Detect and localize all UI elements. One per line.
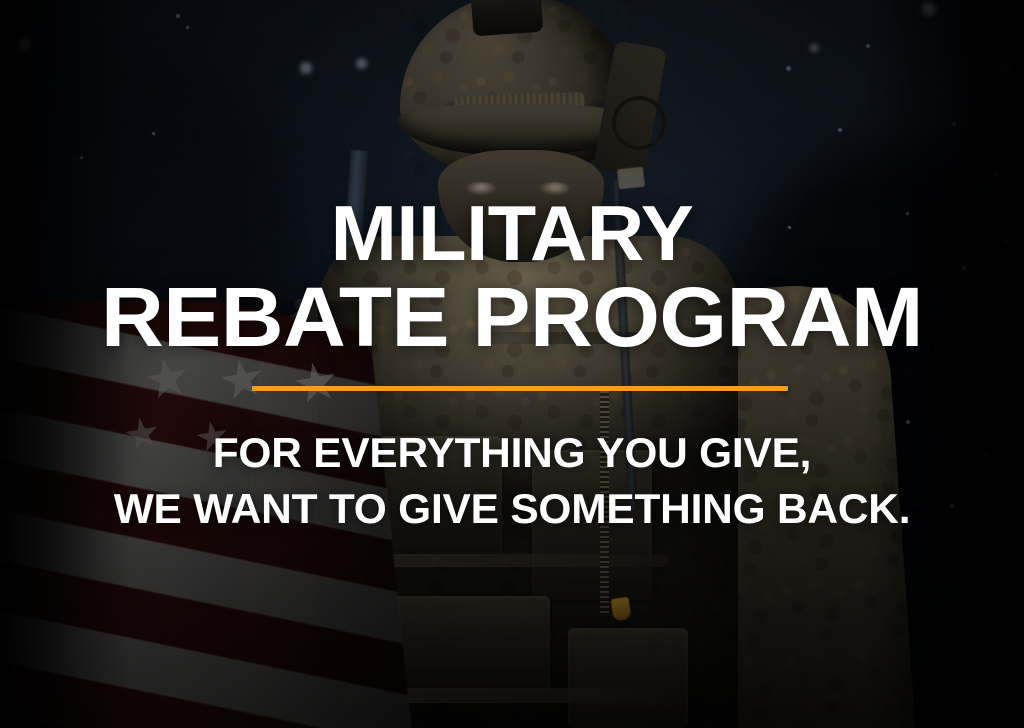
headline-line-1: MILITARY [0, 197, 1024, 270]
orange-divider [252, 386, 788, 391]
headline-line-2: REBATE PROGRAM [0, 278, 1024, 356]
subheadline-line-2: WE WANT TO GIVE SOMETHING BACK. [0, 488, 1024, 530]
banner-content: MILITARY REBATE PROGRAM FOR EVERYTHING Y… [0, 0, 1024, 728]
subheadline-line-1: FOR EVERYTHING YOU GIVE, [0, 432, 1024, 474]
military-rebate-banner: MILITARY REBATE PROGRAM FOR EVERYTHING Y… [0, 0, 1024, 728]
